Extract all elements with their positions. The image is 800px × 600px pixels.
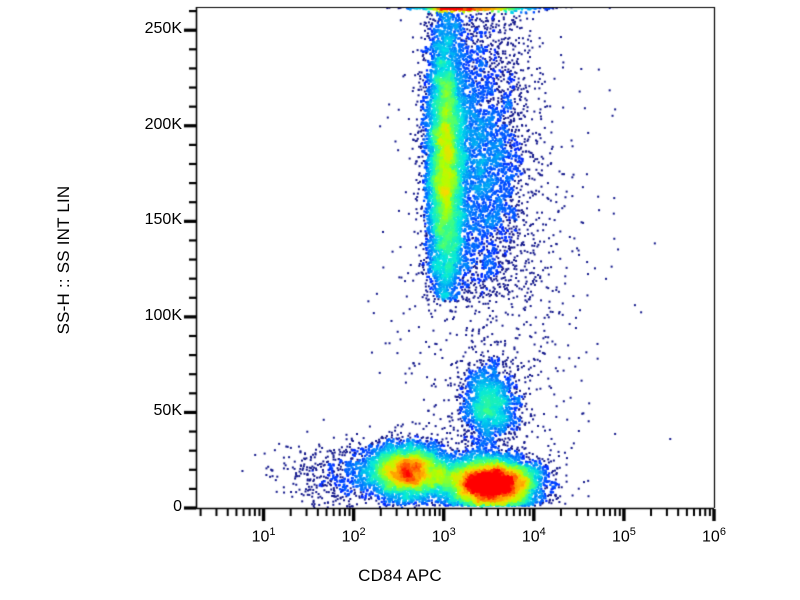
x-tick-mantissa-1e2: 10: [342, 528, 360, 545]
y-axis-title: SS-H :: SS INT LIN: [54, 110, 74, 410]
y-tick-label-100k: 100K: [112, 307, 182, 325]
x-tick-exponent-1e2: 2: [359, 526, 365, 538]
y-tick-label-0: 0: [112, 498, 182, 516]
x-tick-label-1e6: 106: [684, 526, 744, 546]
x-axis-title: CD84 APC: [0, 566, 800, 586]
y-tick-label-250k: 250K: [112, 20, 182, 38]
x-tick-label-1e4: 104: [504, 526, 564, 546]
x-tick-label-1e5: 105: [594, 526, 654, 546]
x-tick-exponent-1e3: 3: [450, 526, 456, 538]
y-tick-label-150k: 150K: [112, 211, 182, 229]
x-tick-mantissa-1e5: 10: [612, 528, 630, 545]
x-tick-label-1e2: 102: [324, 526, 384, 546]
x-tick-exponent-1e5: 5: [630, 526, 636, 538]
x-tick-mantissa-1e4: 10: [522, 528, 540, 545]
flow-cytometry-plot: 0 50K 100K 150K 200K 250K 101 102 103 10…: [0, 0, 800, 600]
x-tick-exponent-1e6: 6: [720, 526, 726, 538]
x-tick-exponent-1e4: 4: [540, 526, 546, 538]
x-tick-exponent-1e1: 1: [269, 526, 275, 538]
y-tick-label-200k: 200K: [112, 116, 182, 134]
x-tick-label-1e1: 101: [234, 526, 294, 546]
x-tick-mantissa-1e3: 10: [432, 528, 450, 545]
x-tick-mantissa-1e1: 10: [252, 528, 270, 545]
x-tick-label-1e3: 103: [414, 526, 474, 546]
x-tick-mantissa-1e6: 10: [702, 528, 720, 545]
y-tick-label-50k: 50K: [112, 402, 182, 420]
